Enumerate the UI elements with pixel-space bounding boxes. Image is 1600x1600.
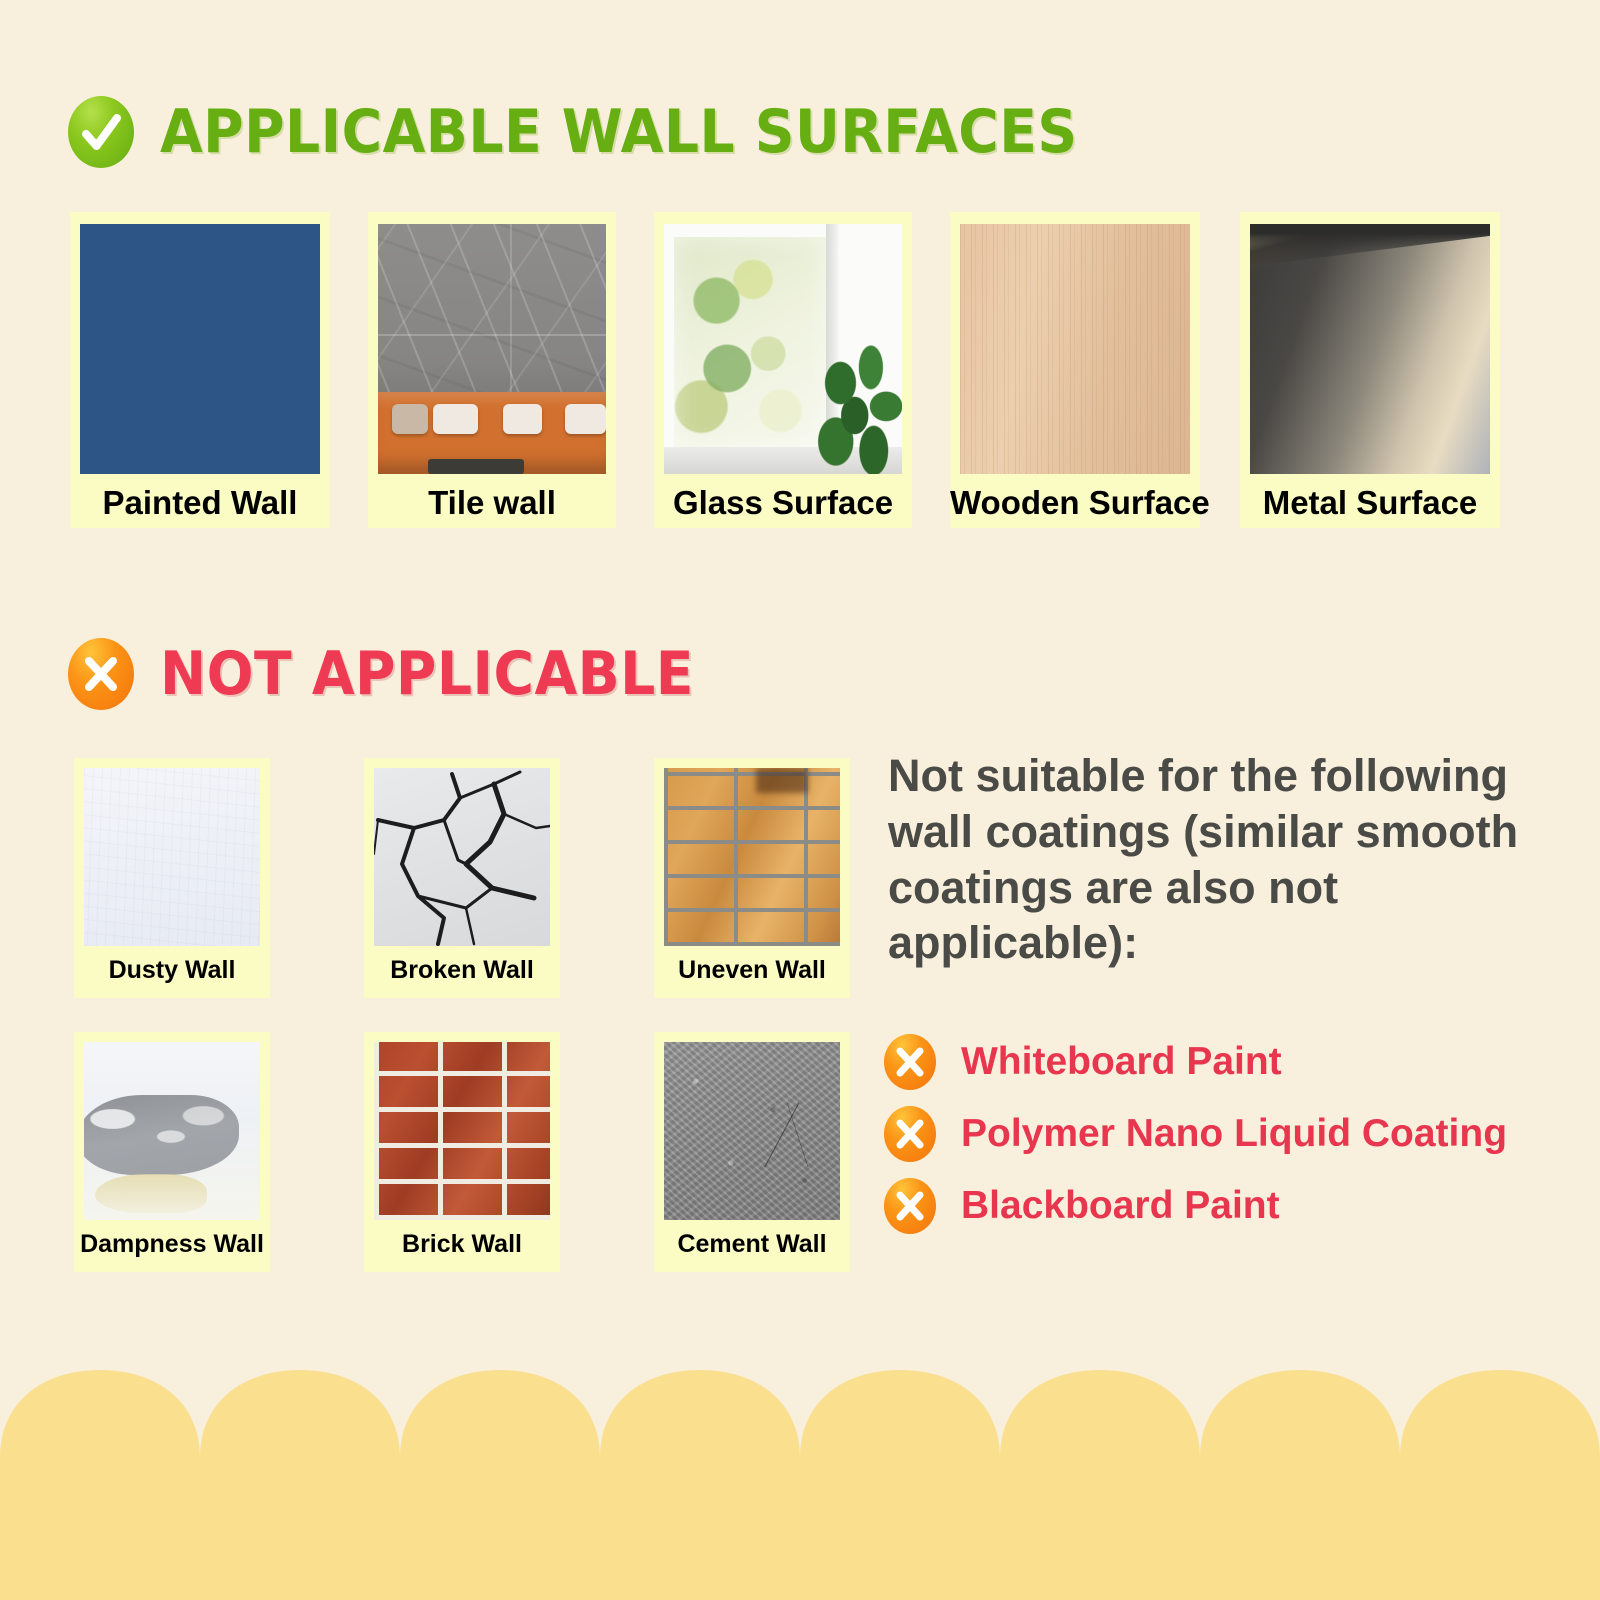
- uneven-wall-thumbnail: [664, 768, 840, 946]
- dampness-wall-thumbnail: [84, 1042, 260, 1220]
- applicable-card-painted-wall: Painted Wall: [70, 212, 330, 528]
- applicable-section-heading: APPLICABLE WALL SURFACES: [68, 96, 1157, 168]
- applicable-card-label: Metal Surface: [1240, 484, 1500, 522]
- tile-wall-thumbnail: [378, 224, 606, 474]
- list-item: Blackboard Paint: [884, 1178, 1507, 1234]
- infographic-page: APPLICABLE WALL SURFACES Painted Wall Ti…: [0, 0, 1600, 1600]
- not-applicable-card-uneven-wall: Uneven Wall: [654, 758, 850, 998]
- brick-wall-thumbnail: [374, 1042, 550, 1220]
- applicable-title: APPLICABLE WALL SURFACES: [160, 102, 1078, 162]
- applicable-card-metal-surface: Metal Surface: [1240, 212, 1500, 528]
- broken-wall-thumbnail: [374, 768, 550, 946]
- cement-wall-thumbnail: [664, 1042, 840, 1220]
- applicable-card-label: Glass Surface: [654, 484, 912, 522]
- unsupported-coatings-list: Whiteboard Paint Polymer Nano Liquid Coa…: [884, 1034, 1507, 1250]
- list-item: Polymer Nano Liquid Coating: [884, 1106, 1507, 1162]
- not-applicable-card-label: Cement Wall: [654, 1230, 850, 1259]
- not-applicable-card-dusty-wall: Dusty Wall: [74, 758, 270, 998]
- glass-surface-thumbnail: [664, 224, 902, 474]
- applicable-card-label: Painted Wall: [70, 484, 330, 522]
- cross-circle-icon: [884, 1178, 936, 1234]
- not-applicable-card-label: Brick Wall: [364, 1230, 560, 1259]
- not-applicable-card-brick-wall: Brick Wall: [364, 1032, 560, 1272]
- not-applicable-card-label: Dampness Wall: [74, 1230, 270, 1259]
- metal-surface-thumbnail: [1250, 224, 1490, 474]
- coating-label: Blackboard Paint: [961, 1184, 1280, 1228]
- not-applicable-card-broken-wall: Broken Wall: [364, 758, 560, 998]
- not-applicable-title: NOT APPLICABLE: [160, 644, 694, 704]
- not-applicable-card-label: Uneven Wall: [654, 956, 850, 985]
- applicable-card-glass-surface: Glass Surface: [654, 212, 912, 528]
- scalloped-bottom-border: [0, 1340, 1600, 1600]
- applicable-card-tile-wall: Tile wall: [368, 212, 616, 528]
- applicable-card-label: Wooden Surface: [950, 484, 1200, 522]
- painted-wall-thumbnail: [80, 224, 320, 474]
- list-item: Whiteboard Paint: [884, 1034, 1507, 1090]
- check-circle-icon: [68, 96, 134, 168]
- cross-circle-icon: [884, 1034, 936, 1090]
- coating-label: Whiteboard Paint: [961, 1040, 1282, 1084]
- dusty-wall-thumbnail: [84, 768, 260, 946]
- not-applicable-card-cement-wall: Cement Wall: [654, 1032, 850, 1272]
- cross-circle-icon: [884, 1106, 936, 1162]
- not-applicable-section-heading: NOT APPLICABLE: [68, 638, 740, 710]
- coating-label: Polymer Nano Liquid Coating: [961, 1112, 1507, 1156]
- not-applicable-card-dampness-wall: Dampness Wall: [74, 1032, 270, 1272]
- not-suitable-note: Not suitable for the following wall coat…: [888, 748, 1568, 971]
- applicable-card-wooden-surface: Wooden Surface: [950, 212, 1200, 528]
- wooden-surface-thumbnail: [960, 224, 1190, 474]
- not-applicable-card-label: Dusty Wall: [74, 956, 270, 985]
- not-applicable-card-label: Broken Wall: [364, 956, 560, 985]
- cross-circle-icon: [68, 638, 134, 710]
- applicable-card-label: Tile wall: [368, 484, 616, 522]
